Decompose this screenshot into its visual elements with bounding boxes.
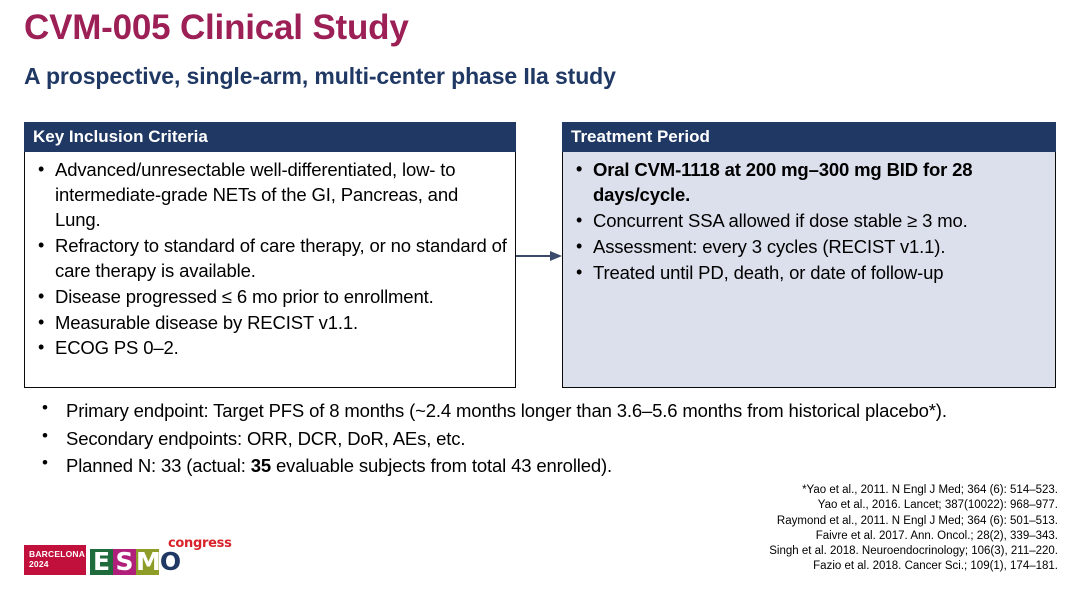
esmo-letter-e: E — [90, 549, 113, 575]
barcelona-2024-badge: BARCELONA 2024 — [24, 545, 86, 575]
list-item-planned-n: Planned N: 33 (actual: 35 evaluable subj… — [28, 453, 958, 479]
logo-year: 2024 — [29, 559, 86, 569]
treatment-period-list: Oral CVM-1118 at 200 mg–300 mg BID for 2… — [571, 158, 1047, 285]
list-item: Refractory to standard of care therapy, … — [33, 234, 507, 284]
esmo-wordmark: E S M O congress — [90, 545, 182, 575]
list-item: Assessment: every 3 cycles (RECIST v1.1)… — [571, 235, 1047, 260]
list-item-secondary-endpoints: Secondary endpoints: ORR, DCR, DoR, AEs,… — [28, 426, 958, 452]
esmo-letter-m: M — [136, 549, 159, 575]
page-title: CVM-005 Clinical Study — [24, 8, 409, 48]
reference-item: Raymond et al., 2011. N Engl J Med; 364 … — [769, 514, 1058, 529]
list-item: ECOG PS 0–2. — [33, 336, 507, 361]
page-subtitle: A prospective, single-arm, multi-center … — [24, 63, 616, 90]
list-item-primary-endpoint: Primary endpoint: Target PFS of 8 months… — [28, 398, 958, 424]
panel-body-treatment: Oral CVM-1118 at 200 mg–300 mg BID for 2… — [562, 152, 1056, 388]
panel-header-inclusion: Key Inclusion Criteria — [24, 122, 516, 152]
esmo-letter-o: O — [159, 549, 182, 575]
reference-item: Yao et al., 2016. Lancet; 387(10022): 96… — [769, 498, 1058, 513]
esmo-congress-logo: BARCELONA 2024 E S M O congress — [24, 541, 182, 575]
list-item: Advanced/unresectable well-differentiate… — [33, 158, 507, 233]
references-block: *Yao et al., 2011. N Engl J Med; 364 (6)… — [769, 483, 1058, 575]
list-item: Concurrent SSA allowed if dose stable ≥ … — [571, 209, 1047, 234]
reference-item: Singh et al. 2018. Neuroendocrinology; 1… — [769, 544, 1058, 559]
list-item: Treated until PD, death, or date of foll… — [571, 261, 1047, 286]
list-item: Oral CVM-1118 at 200 mg–300 mg BID for 2… — [571, 158, 1047, 208]
planned-n-prefix: Planned N: 33 (actual: — [66, 455, 251, 476]
reference-item: Faivre et al. 2017. Ann. Oncol.; 28(2), … — [769, 529, 1058, 544]
panel-body-inclusion: Advanced/unresectable well-differentiate… — [24, 152, 516, 388]
endpoints-list: Primary endpoint: Target PFS of 8 months… — [28, 398, 958, 481]
logo-congress-text: congress — [168, 536, 232, 551]
reference-item: Fazio et al. 2018. Cancer Sci.; 109(1), … — [769, 559, 1058, 574]
reference-item: *Yao et al., 2011. N Engl J Med; 364 (6)… — [769, 483, 1058, 498]
list-item: Measurable disease by RECIST v1.1. — [33, 311, 507, 336]
logo-city: BARCELONA — [29, 549, 86, 559]
planned-n-actual: 35 — [251, 455, 271, 476]
arrow-right-icon — [516, 250, 562, 262]
treatment-period-panel: Treatment Period Oral CVM-1118 at 200 mg… — [562, 122, 1056, 388]
key-inclusion-criteria-panel: Key Inclusion Criteria Advanced/unresect… — [24, 122, 516, 388]
esmo-letter-s: S — [113, 549, 136, 575]
panel-header-treatment: Treatment Period — [562, 122, 1056, 152]
planned-n-suffix: evaluable subjects from total 43 enrolle… — [271, 455, 612, 476]
list-item: Disease progressed ≤ 6 mo prior to enrol… — [33, 285, 507, 310]
inclusion-criteria-list: Advanced/unresectable well-differentiate… — [33, 158, 507, 361]
